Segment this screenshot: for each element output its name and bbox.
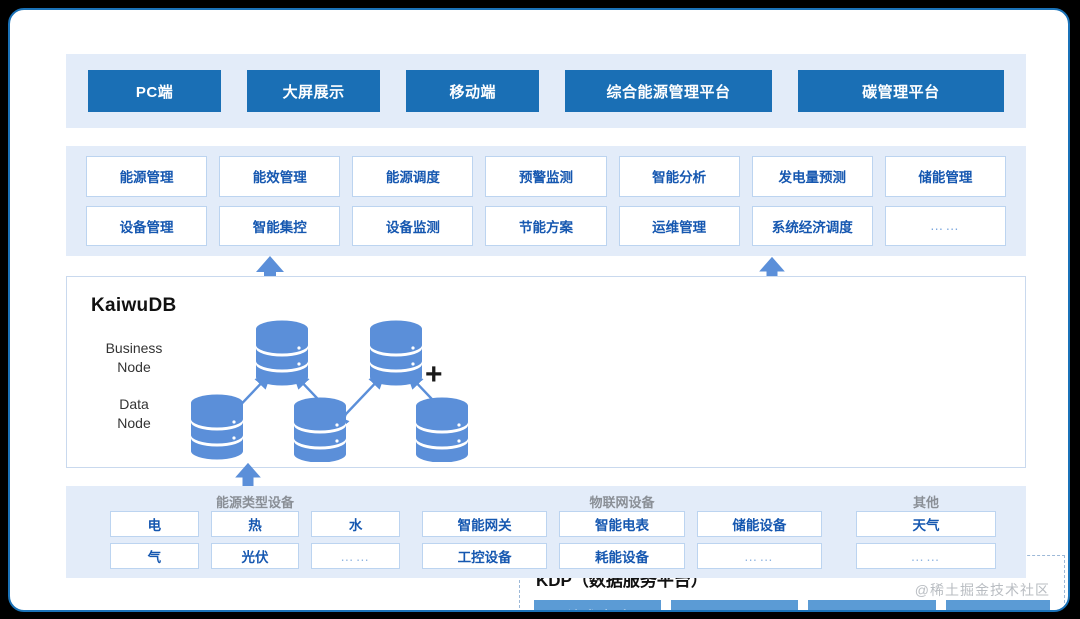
capability-efficiency-management[interactable]: 能效管理 — [219, 156, 340, 197]
data-node-1 — [191, 395, 243, 460]
device-group-energy-title: 能源类型设备 — [110, 486, 400, 508]
kdp-tile-stream-line1: 流式/实时 — [568, 609, 628, 613]
capability-more[interactable]: …… — [885, 206, 1006, 247]
app-button-integrated-energy-platform[interactable]: 综合能源管理平台 — [565, 70, 771, 112]
device-group-other-grid: 天气 …… — [856, 508, 996, 569]
capability-alarm-monitoring[interactable]: 预警监测 — [485, 156, 606, 197]
device-water[interactable]: 水 — [311, 511, 400, 537]
device-group-iot-title: 物联网设备 — [422, 486, 822, 508]
watermark: @稀土掘金技术社区 — [915, 580, 1050, 600]
business-node-2 — [370, 321, 422, 386]
kdp-tile-more[interactable]: …… — [946, 600, 1050, 612]
device-layer: 能源类型设备 电 热 水 气 光伏 …… 物联网设备 智能网关 智能电表 储能设… — [66, 486, 1026, 578]
device-storage-equipment[interactable]: 储能设备 — [697, 511, 822, 537]
kdp-tile-predictive-analysis[interactable]: 预测分析 — [671, 600, 798, 612]
business-node-label-line1: Business — [89, 339, 179, 358]
capability-generation-forecast[interactable]: 发电量预测 — [752, 156, 873, 197]
app-button-carbon-platform[interactable]: 碳管理平台 — [798, 70, 1004, 112]
device-group-iot: 物联网设备 智能网关 智能电表 储能设备 工控设备 耗能设备 …… — [422, 486, 822, 578]
capability-energy-management[interactable]: 能源管理 — [86, 156, 207, 197]
device-group-energy: 能源类型设备 电 热 水 气 光伏 …… — [110, 486, 400, 578]
app-button-mobile[interactable]: 移动端 — [406, 70, 539, 112]
device-photovoltaic[interactable]: 光伏 — [211, 543, 300, 569]
device-electricity[interactable]: 电 — [110, 511, 199, 537]
device-energy-more[interactable]: …… — [311, 543, 400, 569]
data-node-2 — [294, 398, 346, 463]
business-node-label: Business Node — [89, 339, 179, 377]
application-layer-row: PC端 大屏展示 移动端 综合能源管理平台 碳管理平台 — [66, 54, 1026, 128]
device-group-other-title: 其他 — [856, 486, 996, 508]
device-weather[interactable]: 天气 — [856, 511, 996, 537]
capability-economic-dispatch[interactable]: 系统经济调度 — [752, 206, 873, 247]
kdp-grid: 流式/实时 计算 预测分析 可视化 …… 业务建模 行业模型 数据拓展 — [534, 600, 1050, 612]
device-industrial-control[interactable]: 工控设备 — [422, 543, 547, 569]
business-node-1 — [256, 321, 308, 386]
capability-device-monitoring[interactable]: 设备监测 — [352, 206, 473, 247]
data-node-label-line2: Node — [89, 414, 179, 433]
device-gas[interactable]: 气 — [110, 543, 199, 569]
app-button-pc[interactable]: PC端 — [88, 70, 221, 112]
capability-intelligent-control[interactable]: 智能集控 — [219, 206, 340, 247]
data-node-3 — [416, 398, 468, 463]
capability-energy-saving-plan[interactable]: 节能方案 — [485, 206, 606, 247]
device-iot-more[interactable]: …… — [697, 543, 822, 569]
diagram-frame: PC端 大屏展示 移动端 综合能源管理平台 碳管理平台 能源管理 能效管理 能源… — [8, 8, 1070, 612]
device-energy-consuming[interactable]: 耗能设备 — [559, 543, 684, 569]
capability-grid: 能源管理 能效管理 能源调度 预警监测 智能分析 发电量预测 储能管理 设备管理… — [66, 146, 1026, 256]
kaiwudb-title: KaiwuDB — [91, 295, 177, 317]
data-node-label-line1: Data — [89, 395, 179, 414]
business-node-label-line2: Node — [89, 358, 179, 377]
device-other-more[interactable]: …… — [856, 543, 996, 569]
capability-layer: 能源管理 能效管理 能源调度 预警监测 智能分析 发电量预测 储能管理 设备管理… — [66, 146, 1026, 256]
device-group-other: 其他 天气 …… — [856, 486, 996, 578]
capability-intelligent-analysis[interactable]: 智能分析 — [619, 156, 740, 197]
device-group-iot-grid: 智能网关 智能电表 储能设备 工控设备 耗能设备 …… — [422, 508, 822, 569]
combiner-plus-sign: + — [425, 360, 443, 390]
device-smart-meter[interactable]: 智能电表 — [559, 511, 684, 537]
device-heat[interactable]: 热 — [211, 511, 300, 537]
capability-energy-dispatch[interactable]: 能源调度 — [352, 156, 473, 197]
capability-storage-management[interactable]: 储能管理 — [885, 156, 1006, 197]
app-button-large-screen[interactable]: 大屏展示 — [247, 70, 380, 112]
kdp-tile-stream-realtime-compute[interactable]: 流式/实时 计算 — [534, 600, 661, 612]
device-group-energy-grid: 电 热 水 气 光伏 …… — [110, 508, 400, 569]
kdp-tile-visualization[interactable]: 可视化 — [808, 600, 935, 612]
capability-operations-management[interactable]: 运维管理 — [619, 206, 740, 247]
device-smart-gateway[interactable]: 智能网关 — [422, 511, 547, 537]
data-node-label: Data Node — [89, 395, 179, 433]
platform-layer: KaiwuDB Business Node Data Node — [66, 276, 1026, 468]
capability-device-management[interactable]: 设备管理 — [86, 206, 207, 247]
application-layer: PC端 大屏展示 移动端 综合能源管理平台 碳管理平台 — [66, 54, 1026, 128]
